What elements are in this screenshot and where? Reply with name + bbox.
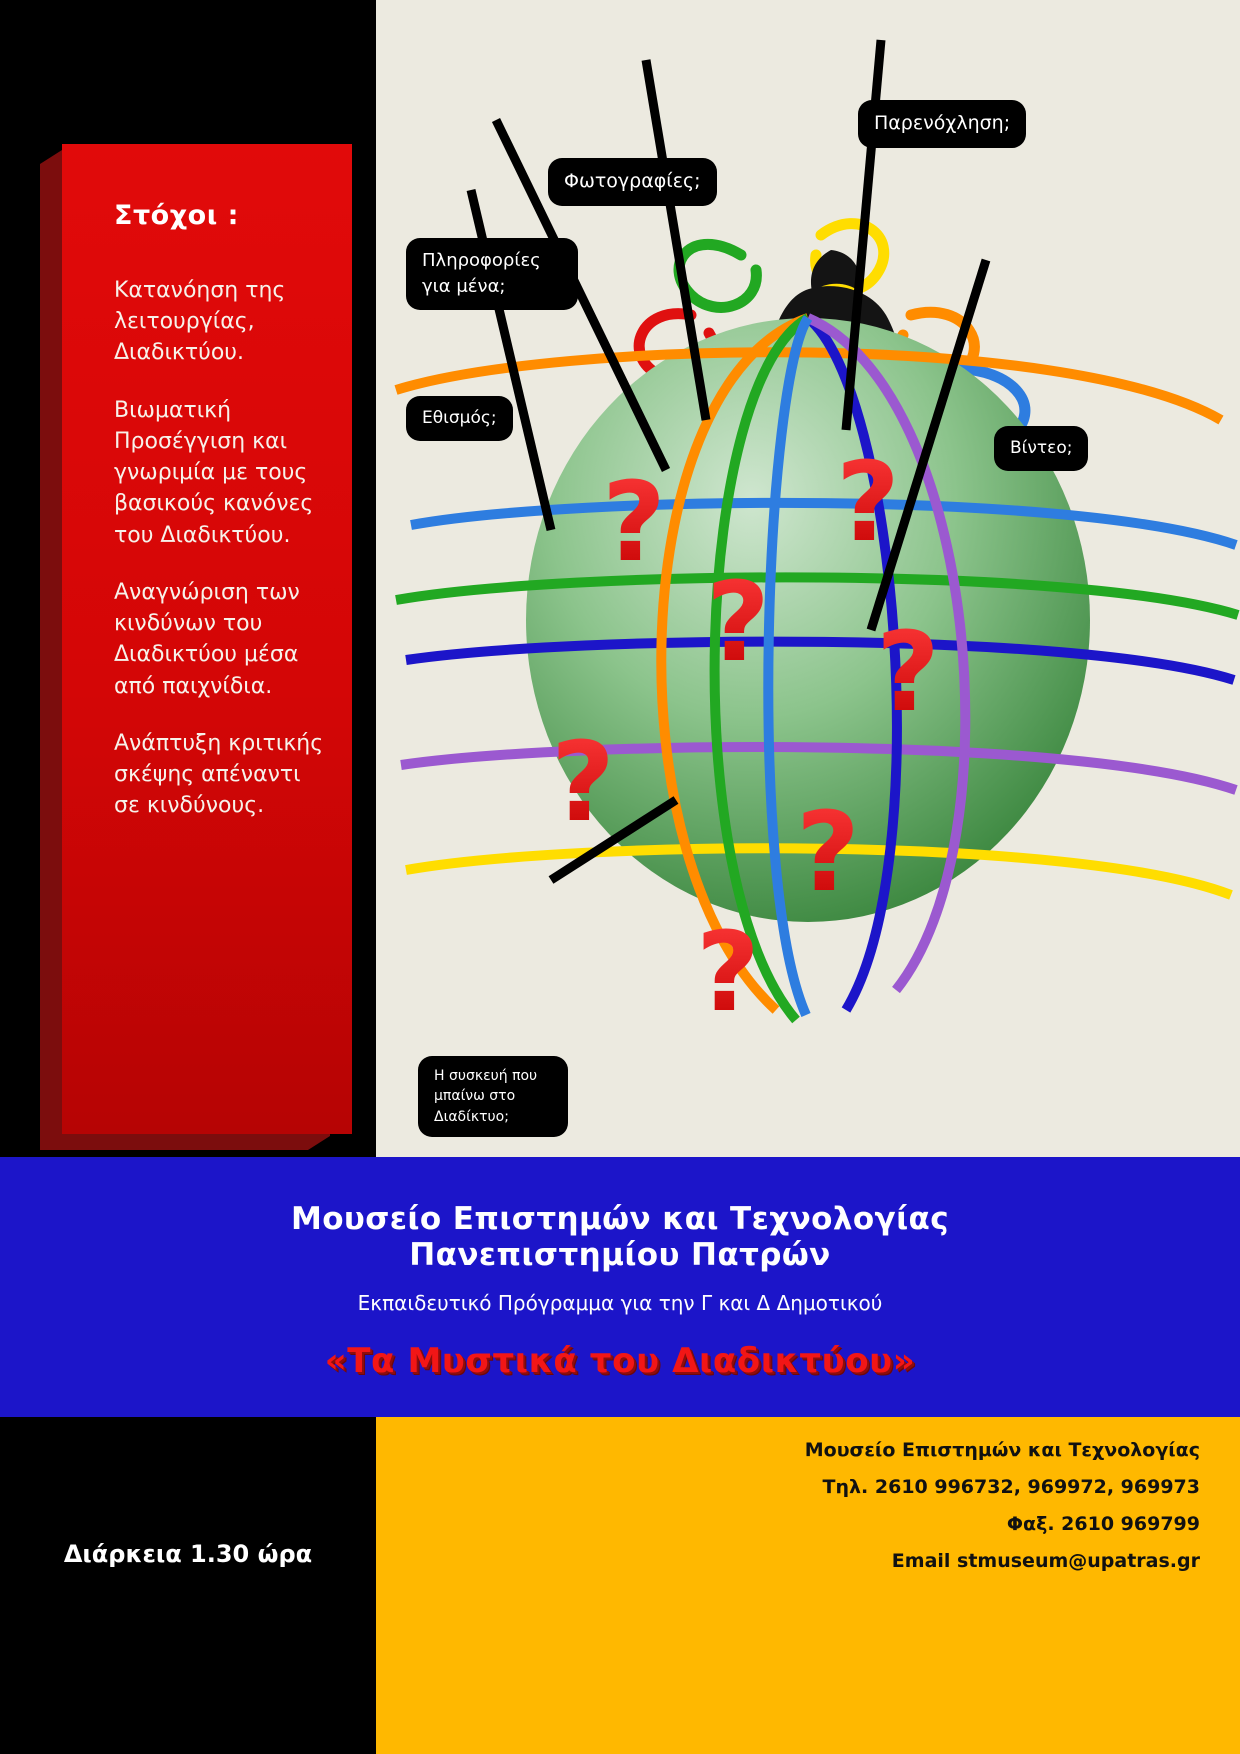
- contact-panel: Μουσείο Επιστημών και Τεχνολογίας Τηλ. 2…: [376, 1417, 1240, 1754]
- svg-text:?: ?: [696, 908, 760, 1036]
- contact-name: Μουσείο Επιστημών και Τεχνολογίας: [376, 1417, 1240, 1460]
- program-title: «Τα Μυστικά του Διαδικτύου»: [0, 1315, 1240, 1381]
- bubble-device[interactable]: Η συσκευή που μπαίνω στο Διαδίκτυο;: [418, 1056, 568, 1137]
- contact-email: Email stmuseum@upatras.gr: [376, 1534, 1240, 1571]
- goal-item: Βιωματική Προσέγγιση και γνωριμία με του…: [114, 395, 326, 551]
- globe-illustration: ? ? ? ? ? ? ?: [376, 0, 1240, 1157]
- bubble-addiction[interactable]: Εθισμός;: [406, 396, 513, 441]
- goal-item: Ανάπτυξη κριτικής σκέψης απέναντι σε κιν…: [114, 728, 326, 822]
- contact-fax: Φαξ. 2610 969799: [376, 1497, 1240, 1534]
- goal-item: Αναγνώριση των κινδύνων του Διαδικτύου μ…: [114, 577, 326, 702]
- goal-item: Κατανόηση της λειτουργίας, Διαδικτύου.: [114, 275, 326, 369]
- bubble-harassment[interactable]: Παρενόχληση;: [858, 100, 1026, 148]
- illustration-stage: ? ? ? ? ? ? ? Εθισμός; Πληροφορίες για μ…: [376, 0, 1240, 1157]
- poster-root: ? ? ? ? ? ? ? Εθισμός; Πληροφορίες για μ…: [0, 0, 1240, 1754]
- svg-text:?: ?: [796, 788, 860, 916]
- organisation-line-1: Μουσείο Επιστημών και Τεχνολογίας: [0, 1157, 1240, 1237]
- svg-text:?: ?: [706, 558, 770, 686]
- goals-heading: Στόχοι :: [62, 144, 352, 231]
- svg-text:?: ?: [602, 458, 666, 586]
- bubble-photos[interactable]: Φωτογραφίες;: [548, 158, 717, 206]
- goals-panel: Στόχοι : Κατανόηση της λειτουργίας, Διαδ…: [62, 144, 352, 1134]
- duration-label: Διάρκεια 1.30 ώρα: [0, 1540, 376, 1568]
- svg-text:?: ?: [836, 438, 900, 566]
- goals-list: Κατανόηση της λειτουργίας, Διαδικτύου. Β…: [62, 231, 352, 822]
- contact-phone: Τηλ. 2610 996732, 969972, 969973: [376, 1460, 1240, 1497]
- footer-blue-band: Μουσείο Επιστημών και Τεχνολογίας Πανεπι…: [0, 1157, 1240, 1417]
- bubble-video[interactable]: Βίντεο;: [994, 426, 1088, 471]
- program-subtitle: Εκπαιδευτικό Πρόγραμμα για την Γ και Δ Δ…: [0, 1273, 1240, 1315]
- bubble-personal-info[interactable]: Πληροφορίες για μένα;: [406, 238, 578, 310]
- svg-text:?: ?: [876, 608, 940, 736]
- svg-text:?: ?: [551, 718, 615, 846]
- organisation-line-2: Πανεπιστημίου Πατρών: [0, 1237, 1240, 1273]
